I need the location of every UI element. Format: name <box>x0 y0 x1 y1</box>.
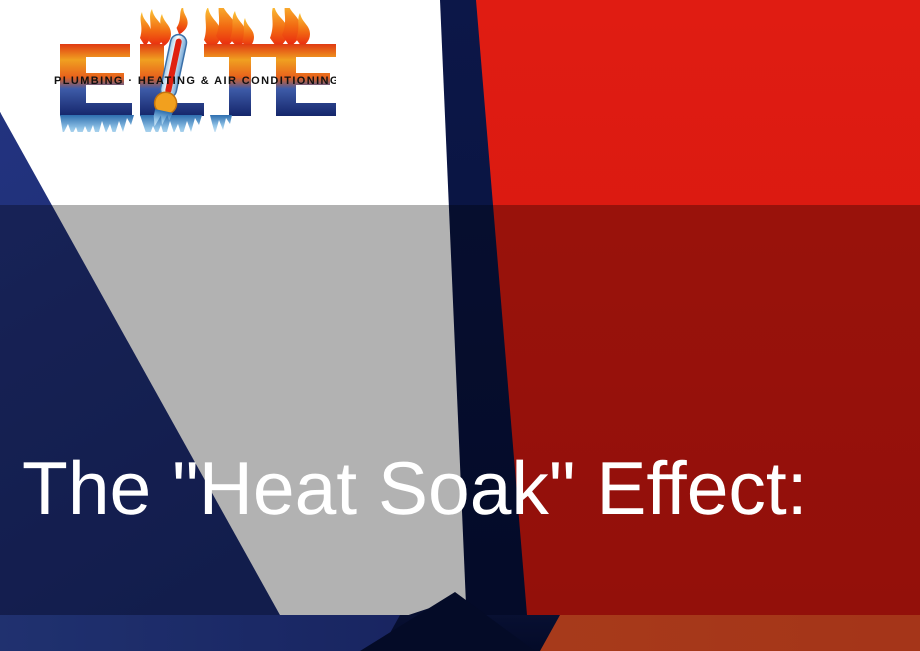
flame-icon <box>140 8 310 50</box>
icicle-icon <box>60 115 232 132</box>
logo-tagline: PLUMBING · HEATING & AIR CONDITIONING <box>54 75 336 87</box>
headline-line-1: The "Heat Soak" Effect: <box>0 436 920 541</box>
headline: The "Heat Soak" Effect: Why Your AC Stru… <box>0 226 920 651</box>
elite-logo: PLUMBING · HEATING & AIR CONDITIONING <box>44 8 336 132</box>
tagline-text: PLUMBING · HEATING & AIR CONDITIONING <box>54 75 336 87</box>
slide-canvas: PLUMBING · HEATING & AIR CONDITIONING Th… <box>0 0 920 651</box>
